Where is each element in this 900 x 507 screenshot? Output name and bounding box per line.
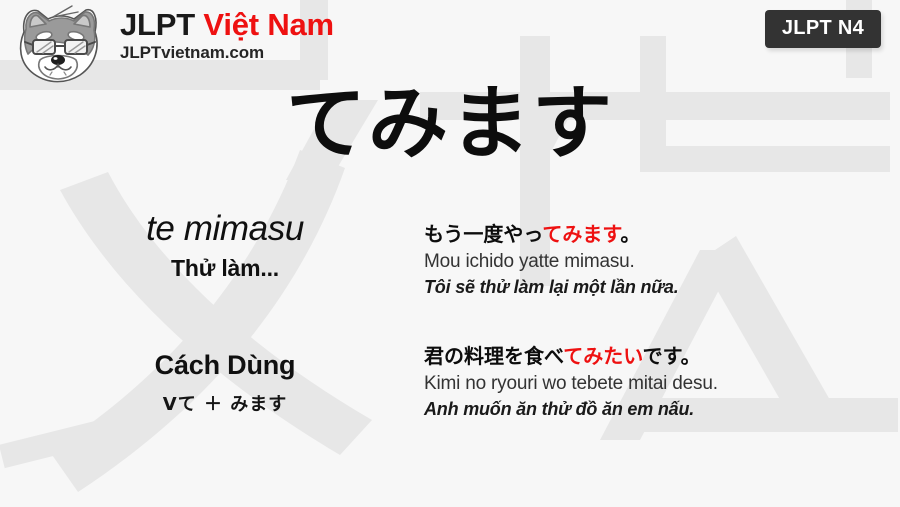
reading-block: te mimasu Thử làm... <box>40 210 410 282</box>
romaji-reading: te mimasu <box>40 210 410 248</box>
example-jp-after: です。 <box>643 344 701 368</box>
usage-formula: Vて ＋ みます <box>40 390 410 416</box>
usage-block: Cách Dùng Vて ＋ みます <box>40 350 410 416</box>
example-vietnamese: Tôi sẽ thử làm lại một lần nữa. <box>424 276 884 299</box>
example-item: 君の料理を食べてみたいです。 Kimi no ryouri wo tebete … <box>424 344 884 421</box>
brand-domain: JLPTvietnam.com <box>120 43 334 63</box>
example-jp-highlight: てみたい <box>563 344 642 368</box>
example-vietnamese: Anh muốn ăn thử đồ ăn em nấu. <box>424 398 884 421</box>
example-jp-highlight: てみます <box>542 222 620 246</box>
example-jp-before: もう一度やっ <box>424 222 542 246</box>
brand-block: JLPT Việt Nam JLPTvietnam.com <box>120 8 334 63</box>
brand-title-secondary: Việt Nam <box>203 7 334 42</box>
example-japanese: もう一度やってみます。 <box>424 222 884 247</box>
lesson-card: JLPT Việt Nam JLPTvietnam.com JLPT N4 てみ… <box>0 0 900 507</box>
content-area: te mimasu Thử làm... Cách Dùng Vて ＋ みます … <box>0 196 900 476</box>
example-jp-before: 君の料理を食べ <box>424 344 563 368</box>
brand-title: JLPT Việt Nam <box>120 8 334 41</box>
example-romaji: Kimi no ryouri wo tebete mitai desu. <box>424 372 884 397</box>
example-item: もう一度やってみます。 Mou ichido yatte mimasu. Tôi… <box>424 222 884 299</box>
status-badge: JLPT N4 <box>765 10 881 48</box>
usage-heading: Cách Dùng <box>40 350 410 381</box>
brand-title-primary: JLPT <box>120 7 203 42</box>
example-japanese: 君の料理を食べてみたいです。 <box>424 344 884 369</box>
page-title: てみます <box>0 84 900 164</box>
example-romaji: Mou ichido yatte mimasu. <box>424 250 884 275</box>
vietnamese-meaning: Thử làm... <box>40 255 410 282</box>
header: JLPT Việt Nam JLPTvietnam.com JLPT N4 <box>0 0 900 88</box>
shiba-dog-with-glasses-icon <box>6 2 110 88</box>
example-jp-after: 。 <box>620 222 640 246</box>
